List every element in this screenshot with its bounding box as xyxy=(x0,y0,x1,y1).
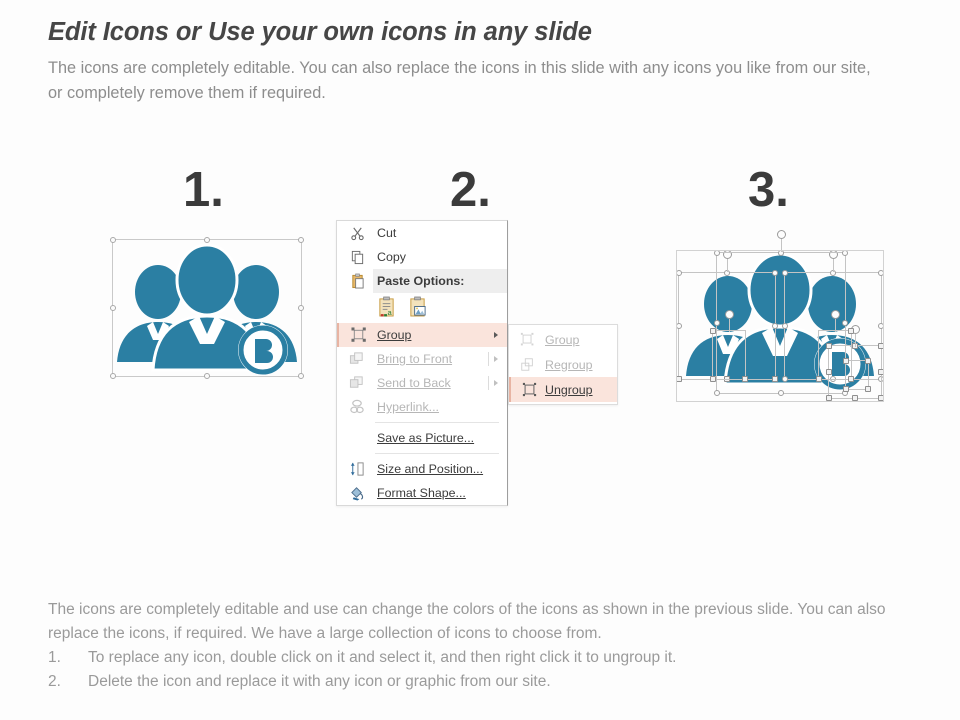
step-number-1: 1. xyxy=(183,166,224,215)
menu-item-group[interactable]: Group xyxy=(337,323,507,347)
menu-item-copy[interactable]: Copy xyxy=(337,245,507,269)
submenu-item-regroup[interactable]: Regroup xyxy=(509,352,617,377)
size-position-icon xyxy=(347,460,367,478)
chevron-right-icon xyxy=(494,356,498,362)
resize-handle-bottom-right[interactable] xyxy=(298,373,304,379)
step-number-2: 2. xyxy=(450,166,491,215)
resize-handle-middle-right[interactable] xyxy=(298,305,304,311)
menu-item-send-to-back[interactable]: Send to Back xyxy=(337,371,507,395)
resize-handle-top-center[interactable] xyxy=(204,237,210,243)
footer-paragraph: The icons are completely editable and us… xyxy=(48,598,933,646)
scissors-icon xyxy=(347,224,367,242)
menu-item-label: Hyperlink... xyxy=(377,400,439,414)
resize-handle-bottom-center[interactable] xyxy=(204,373,210,379)
ungroup-icon xyxy=(519,381,539,399)
paste-picture-icon[interactable] xyxy=(408,296,427,320)
chevron-right-icon xyxy=(494,380,498,386)
group-submenu[interactable]: Group Regroup Ungroup xyxy=(508,324,618,405)
menu-item-label: Size and Position... xyxy=(377,462,483,476)
menu-item-label: Send to Back xyxy=(377,376,451,390)
menu-item-label: Save as Picture... xyxy=(377,431,474,445)
submenu-item-label: Ungroup xyxy=(545,383,593,397)
send-to-back-icon xyxy=(347,374,367,392)
menu-item-label: Format Shape... xyxy=(377,486,466,500)
resize-handle-top-left[interactable] xyxy=(110,237,116,243)
menu-item-cut[interactable]: Cut xyxy=(337,221,507,245)
page-subtitle: The icons are completely editable. You c… xyxy=(48,56,878,106)
menu-item-format-shape[interactable]: Format Shape... xyxy=(337,481,507,505)
menu-item-label: Copy xyxy=(377,250,406,264)
hyperlink-icon xyxy=(347,398,367,416)
footer-list: 1. To replace any icon, double click on … xyxy=(48,646,933,694)
menu-item-save-as-picture[interactable]: Save as Picture... xyxy=(337,426,507,450)
bring-to-front-icon xyxy=(347,350,367,368)
rotation-handle[interactable] xyxy=(777,230,786,239)
chevron-right-icon xyxy=(494,332,498,338)
paste-options-icon-row[interactable]: a xyxy=(337,293,507,323)
list-item: 1. To replace any icon, double click on … xyxy=(48,646,933,670)
menu-item-label: Cut xyxy=(377,226,396,240)
menu-item-label: Paste Options: xyxy=(377,274,464,288)
paste-keep-text-icon[interactable]: a xyxy=(377,296,396,320)
step-number-3: 3. xyxy=(748,166,789,215)
list-item: 2. Delete the icon and replace it with a… xyxy=(48,670,933,694)
submenu-item-ungroup[interactable]: Ungroup xyxy=(509,377,617,402)
list-item-text: To replace any icon, double click on it … xyxy=(88,649,676,666)
paint-bucket-icon xyxy=(347,484,367,502)
submenu-item-label: Regroup xyxy=(545,358,593,372)
submenu-item-group[interactable]: Group xyxy=(509,327,617,352)
regroup-icon xyxy=(517,356,537,374)
group-icon xyxy=(517,331,537,349)
paste-icon xyxy=(347,272,367,290)
footer-text-block: The icons are completely editable and us… xyxy=(48,598,933,694)
menu-separator xyxy=(375,422,499,423)
resize-handle-bottom-left[interactable] xyxy=(110,373,116,379)
group-icon xyxy=(349,326,369,344)
context-menu[interactable]: Cut Copy Paste Options: xyxy=(336,220,508,506)
page-title: Edit Icons or Use your own icons in any … xyxy=(48,18,592,47)
submenu-item-label: Group xyxy=(545,333,579,347)
menu-item-bring-to-front[interactable]: Bring to Front xyxy=(337,347,507,371)
list-item-number: 1. xyxy=(48,646,70,670)
selection-frame-icon-1[interactable] xyxy=(112,239,302,377)
menu-item-size-and-position[interactable]: Size and Position... xyxy=(337,457,507,481)
list-item-number: 2. xyxy=(48,670,70,694)
resize-handle-middle-left[interactable] xyxy=(110,305,116,311)
list-item-text: Delete the icon and replace it with any … xyxy=(88,673,551,690)
resize-handle-top-right[interactable] xyxy=(298,237,304,243)
copy-icon xyxy=(347,248,367,266)
menu-divider xyxy=(488,352,489,366)
menu-item-label: Group xyxy=(377,328,411,342)
menu-divider xyxy=(488,376,489,390)
menu-item-label: Bring to Front xyxy=(377,352,452,366)
menu-item-paste-options: Paste Options: xyxy=(337,269,507,293)
sub-selection-outer-bounds[interactable] xyxy=(676,250,884,402)
menu-item-hyperlink[interactable]: Hyperlink... xyxy=(337,395,507,419)
menu-separator xyxy=(375,453,499,454)
